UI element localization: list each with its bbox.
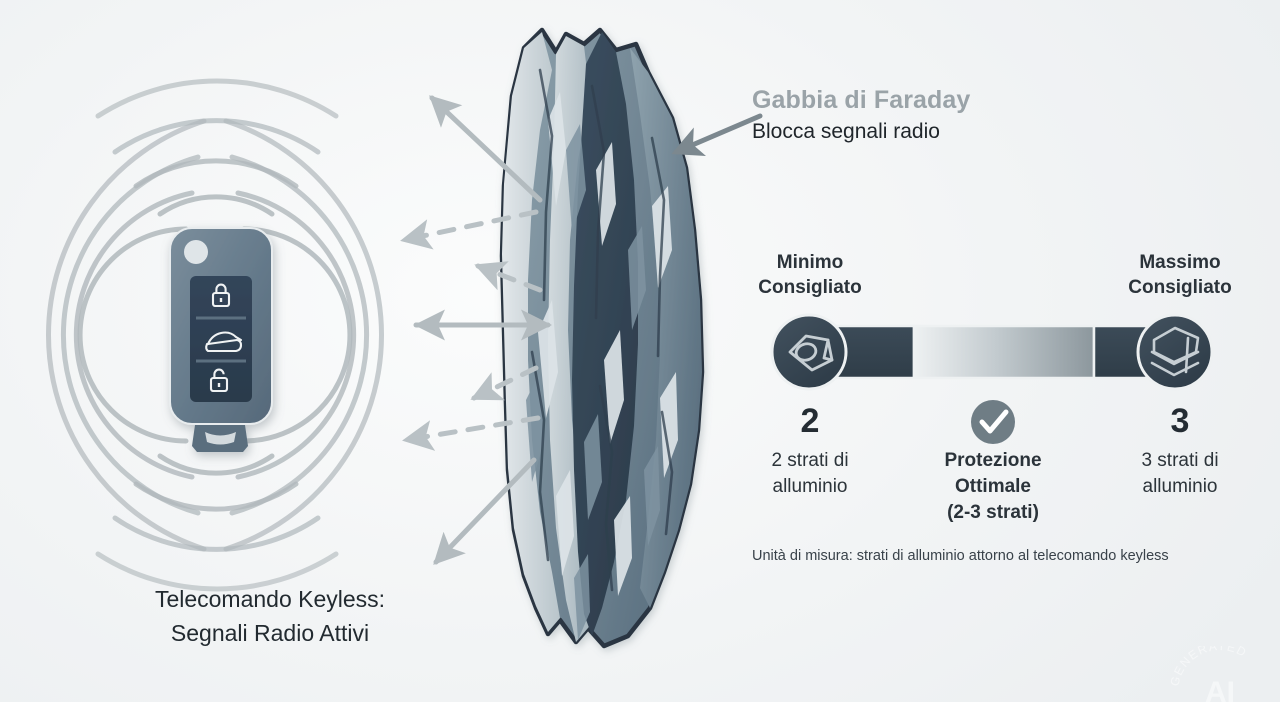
- infographic-canvas: Gabbia di Faraday Blocca segnali radio M…: [0, 0, 1280, 702]
- scale-max-caption-line2: alluminio: [1143, 476, 1218, 497]
- key-fob-caption-line1: Telecomando Keyless:: [155, 586, 385, 612]
- aluminium-foil-sheet: [502, 30, 702, 646]
- faraday-pointer-arrow: [676, 116, 760, 152]
- scale-min-caption-line2: alluminio: [773, 476, 848, 497]
- scale-max-marker[interactable]: [1138, 315, 1212, 389]
- scale-min-label-line2: Consigliato: [758, 277, 861, 298]
- key-fob: [170, 228, 272, 452]
- key-fob-caption: Telecomando Keyless: Segnali Radio Attiv…: [70, 582, 470, 650]
- unit-footnote: Unità di misura: strati di alluminio att…: [752, 548, 1169, 564]
- keyring-hole-icon: [184, 240, 208, 264]
- protection-scale-bar[interactable]: [772, 315, 1212, 389]
- optimal-caption-line1: Protezione: [944, 450, 1041, 471]
- scale-max-label-line1: Massimo: [1139, 252, 1220, 273]
- key-fob-caption-line2: Segnali Radio Attivi: [70, 616, 470, 650]
- watermark-bottom-text: AI: [1205, 676, 1235, 702]
- scale-min-value: 2: [750, 402, 870, 440]
- scale-min-label: Minimo Consigliato: [750, 250, 870, 300]
- faraday-cage-title: Gabbia di Faraday: [752, 86, 970, 115]
- scale-bar-middle-gradient: [914, 326, 1094, 378]
- scale-min-caption: 2 strati di alluminio: [744, 448, 876, 500]
- faraday-cage-subtitle: Blocca segnali radio: [752, 120, 940, 144]
- scale-max-value: 3: [1118, 402, 1242, 440]
- optimal-protection-caption: Protezione Ottimale (2-3 strati): [912, 448, 1074, 526]
- optimal-check-badge: [971, 400, 1015, 444]
- generated-ai-watermark: GENERATED AI: [1168, 646, 1272, 702]
- check-circle-icon: [971, 400, 1015, 444]
- scale-min-marker[interactable]: [772, 315, 846, 389]
- optimal-caption-line2: Ottimale: [955, 476, 1031, 497]
- scale-max-label-line2: Consigliato: [1128, 277, 1231, 298]
- scale-max-caption-line1: 3 strati di: [1141, 450, 1218, 471]
- optimal-caption-line3: (2-3 strati): [947, 502, 1039, 523]
- scale-min-label-line1: Minimo: [777, 252, 844, 273]
- scale-max-label: Massimo Consigliato: [1118, 250, 1242, 300]
- fob-button-panel: [190, 276, 252, 402]
- scale-min-caption-line1: 2 strati di: [771, 450, 848, 471]
- scale-max-caption: 3 strati di alluminio: [1112, 448, 1248, 500]
